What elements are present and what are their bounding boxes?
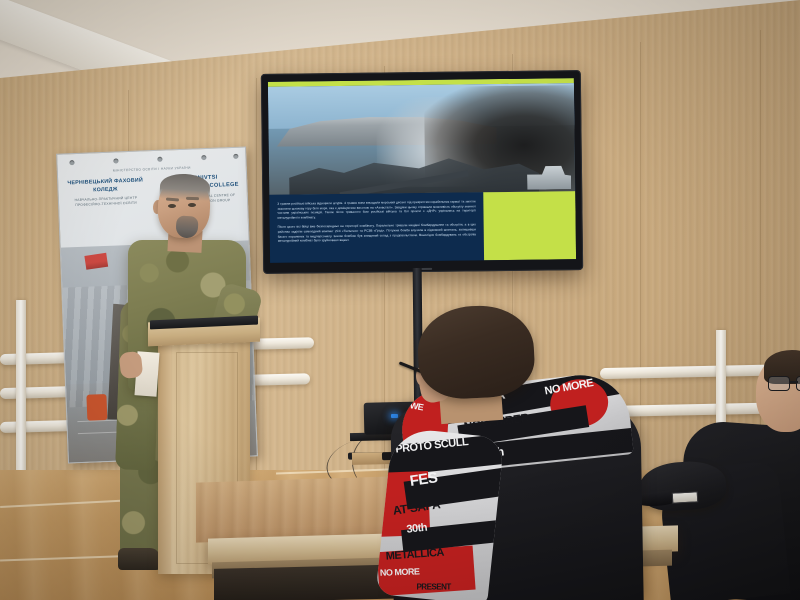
cap-label-tag xyxy=(672,491,699,503)
jacket-print-sleeve: PROTO SCULL FES AT SAPA 30th METALLICA N… xyxy=(376,427,505,600)
banner-grommet xyxy=(201,155,206,160)
banner-grommet xyxy=(157,157,162,162)
wall-seam xyxy=(760,30,761,490)
slide-photo xyxy=(268,83,575,195)
banner-title-ua: ЧЕРНІВЕЦЬКИЙ ФАХОВИЙ КОЛЕДЖ xyxy=(63,177,148,195)
speaker-boot xyxy=(118,548,160,570)
wall-mounted-display[interactable]: 3 травня російські війська відновили шту… xyxy=(261,70,583,274)
speaker-left-hand xyxy=(119,351,144,379)
banner-grommet xyxy=(233,154,238,159)
speaker-eyebrow xyxy=(186,197,199,200)
speaker-eye xyxy=(188,203,196,207)
banner-subtitle-ua: НАВЧАЛЬНО-ПРАКТИЧНИЙ ЦЕНТР ПРОФЕСІЙНО-ТЕ… xyxy=(64,195,148,208)
wall-bar-post xyxy=(16,300,26,476)
banner-flag-graphic xyxy=(84,253,108,270)
glasses-lens xyxy=(796,376,800,391)
banner-grommet xyxy=(69,160,74,165)
wall-bar-rail xyxy=(248,373,310,386)
power-led-icon xyxy=(391,414,398,418)
lectern-side-edge xyxy=(158,342,171,574)
slide-paragraph-1: 3 травня російські війська відновили шту… xyxy=(277,199,475,220)
banner-column-ua: ЧЕРНІВЕЦЬКИЙ ФАХОВИЙ КОЛЕДЖ НАВЧАЛЬНО-ПР… xyxy=(58,177,153,209)
wall-seam xyxy=(640,42,641,492)
slide-text-panel: 3 травня російські війська відновили шту… xyxy=(269,192,484,263)
slide-green-panel xyxy=(483,191,576,260)
glasses-lens xyxy=(768,376,790,391)
slide-paragraph-2: Після цього всі бійці вже безпосередньо … xyxy=(278,223,476,244)
glasses-bridge xyxy=(790,381,798,383)
lecture-hall-photo: МІНІСТЕРСТВО ОСВІТИ І НАУКИ УКРАЇНИ ЧЕРН… xyxy=(0,0,800,600)
speaker-eye xyxy=(168,204,176,208)
tv-screen[interactable]: 3 травня російські війська відновили шту… xyxy=(268,78,576,263)
banner-grommet xyxy=(113,158,118,163)
banner-photo-object xyxy=(86,394,107,421)
